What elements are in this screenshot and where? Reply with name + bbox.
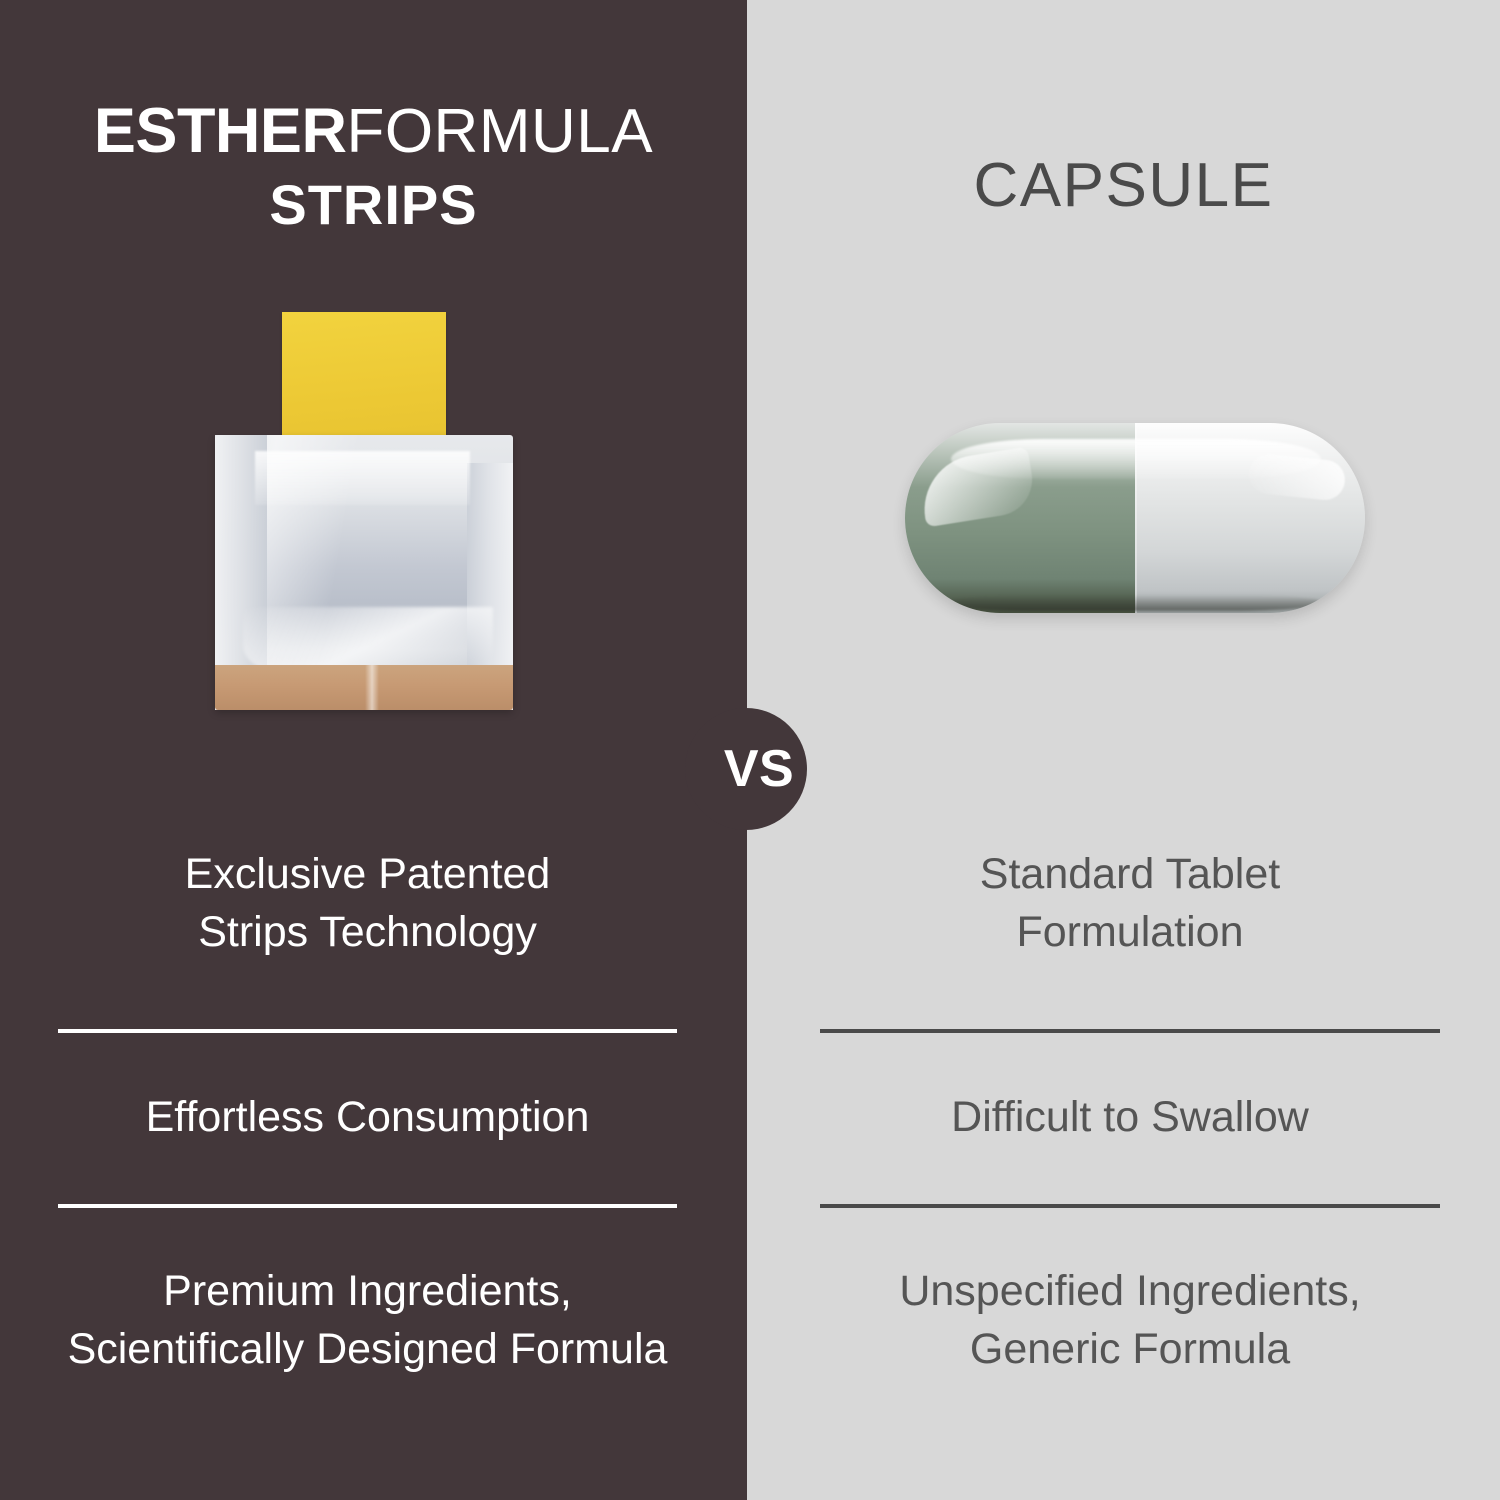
right-feature-3-line-2: Generic Formula [820, 1320, 1440, 1378]
pouch-tan-band-icon [215, 665, 513, 710]
brand-name-formula: FORMULA [346, 97, 653, 166]
right-feature-row-2: Difficult to Swallow [820, 1088, 1440, 1146]
left-panel-header: ESTHERFORMULA STRIPS [0, 100, 747, 233]
left-feature-2-line-1: Effortless Consumption [58, 1088, 677, 1146]
brand-name-esther: ESTHER [94, 96, 347, 166]
left-feature-3-line-2: Scientifically Designed Formula [58, 1320, 677, 1378]
pouch-sheen-icon [255, 451, 470, 505]
left-feature-3-line-1: Premium Ingredients, [58, 1262, 677, 1320]
right-feature-row-1: Standard Tablet Formulation [820, 845, 1440, 962]
right-feature-row-3: Unspecified Ingredients, Generic Formula [820, 1262, 1440, 1379]
comparison-infographic: ESTHERFORMULA STRIPS CAPSULE [0, 0, 1500, 1500]
left-feature-1-line-1: Exclusive Patented [58, 845, 677, 903]
vs-badge-label: VS [724, 743, 794, 795]
brand-title: ESTHERFORMULA [0, 100, 747, 163]
left-feature-row-3: Premium Ingredients, Scientifically Desi… [58, 1262, 677, 1379]
pouch-band-highlight-icon [365, 665, 379, 710]
left-feature-row-1: Exclusive Patented Strips Technology [58, 845, 677, 962]
capsule-bottom-shadow-icon [945, 595, 1325, 611]
capsule-icon [905, 423, 1365, 613]
right-feature-2-line-1: Difficult to Swallow [820, 1088, 1440, 1146]
right-feature-3-line-1: Unspecified Ingredients, [820, 1262, 1440, 1320]
right-panel-header: CAPSULE [747, 155, 1500, 217]
left-divider-2 [58, 1204, 677, 1208]
vs-badge: VS [685, 708, 807, 830]
right-divider-2 [820, 1204, 1440, 1208]
capsule-image [905, 423, 1365, 613]
right-divider-1 [820, 1029, 1440, 1033]
strips-sachet-image [205, 300, 525, 720]
capsule-title: CAPSULE [747, 155, 1500, 217]
right-feature-1-line-2: Formulation [820, 903, 1440, 961]
brand-subtitle-strips: STRIPS [0, 177, 747, 233]
right-feature-1-line-1: Standard Tablet [820, 845, 1440, 903]
left-feature-1-line-2: Strips Technology [58, 903, 677, 961]
left-feature-row-2: Effortless Consumption [58, 1088, 677, 1146]
left-divider-1 [58, 1029, 677, 1033]
